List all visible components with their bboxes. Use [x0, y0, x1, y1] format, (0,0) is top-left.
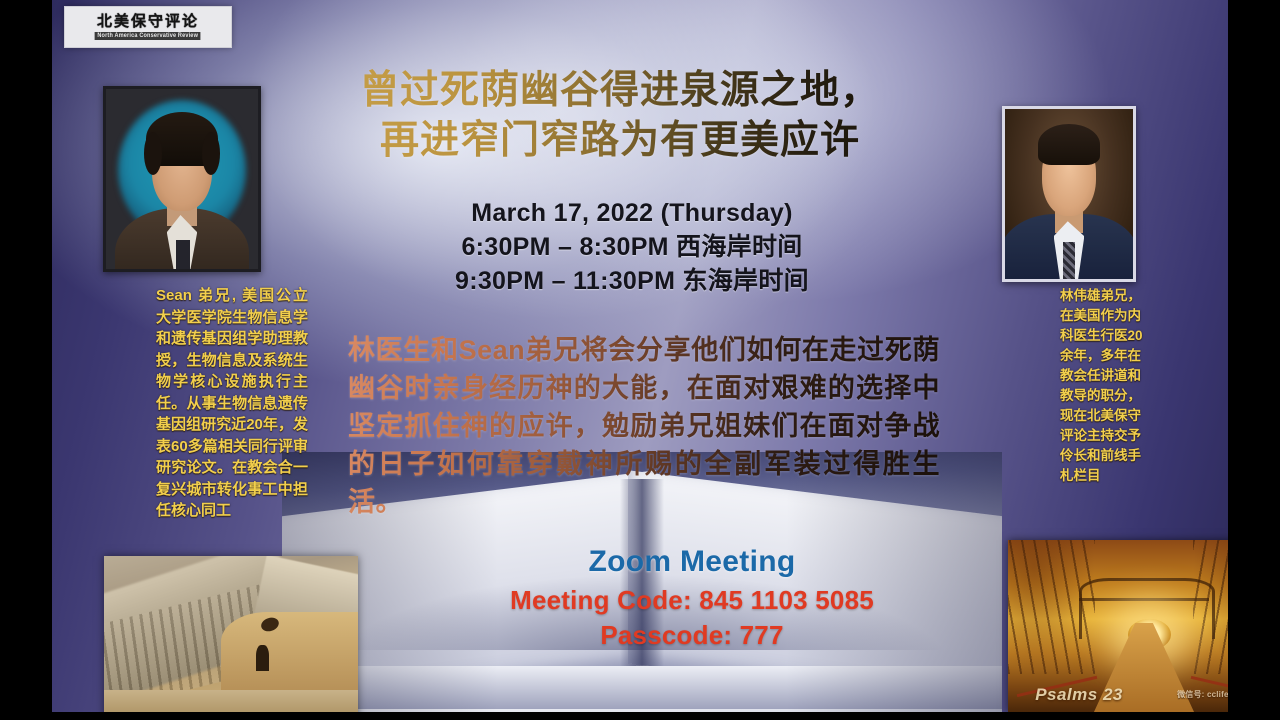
zoom-meeting-code[interactable]: Meeting Code: 845 1103 5085 — [432, 585, 952, 616]
zoom-meeting-info: Zoom Meeting Meeting Code: 845 1103 5085… — [432, 545, 952, 651]
wechat-watermark: 微信号: cclife2013gmail — [1177, 689, 1228, 700]
speaker-photo-sean — [103, 86, 261, 272]
site-logo: 北美保守评论 North America Conservative Review — [64, 6, 232, 48]
logo-english-text: North America Conservative Review — [95, 32, 201, 40]
slide-stage: 北美保守评论 North America Conservative Review… — [0, 0, 1280, 720]
event-time-west-coast: 6:30PM – 8:30PM 西海岸时间 — [352, 230, 912, 264]
title-line-1: 曾过死荫幽谷得进泉源之地， — [300, 66, 940, 116]
psalms-watermark: Psalms 23 — [1035, 685, 1123, 705]
bridge-truss-bar — [1079, 598, 1210, 601]
letterbox-right — [1228, 0, 1280, 720]
event-time-east-coast: 9:30PM – 11:30PM 东海岸时间 — [352, 264, 912, 298]
zoom-heading: Zoom Meeting — [432, 545, 952, 579]
letterbox-bottom — [0, 712, 1280, 720]
letterbox-left — [0, 0, 52, 720]
logo-chinese-text: 北美保守评论 — [97, 14, 199, 29]
sunset-bridge-photo: Psalms 23 微信号: cclife2013gmail — [1008, 540, 1228, 712]
speaker-bio-sean: Sean 弟兄, 美国公立大学医学院生物信息学和遗传基因组学助理教授，生物信息及… — [156, 285, 308, 522]
portrait-tie — [1063, 242, 1076, 279]
title-line-2: 再进窄门窄路为有更美应许 — [300, 116, 940, 166]
desert-cave-opening — [256, 645, 269, 671]
event-schedule: March 17, 2022 (Thursday) 6:30PM – 8:30P… — [352, 196, 912, 298]
presentation-slide: 北美保守评论 North America Conservative Review… — [52, 0, 1228, 720]
speaker-bio-lin: 林伟雄弟兄，在美国作为内科医生行医20余年，多年在教会任讲道和教导的职分，现在北… — [1060, 286, 1146, 486]
zoom-passcode[interactable]: Passcode: 777 — [432, 620, 952, 651]
portrait-hair — [1038, 124, 1099, 165]
desert-canyon-photo — [104, 556, 358, 720]
portrait-tie — [176, 240, 190, 269]
event-date: March 17, 2022 (Thursday) — [352, 196, 912, 230]
speaker-photo-lin — [1002, 106, 1136, 282]
event-description: 林医生和Sean弟兄将会分享他们如何在走过死荫幽谷时亲身经历神的大能，在面对艰难… — [348, 331, 940, 521]
slide-title: 曾过死荫幽谷得进泉源之地， 再进窄门窄路为有更美应许 — [300, 66, 940, 166]
portrait-hair-right — [202, 132, 220, 175]
